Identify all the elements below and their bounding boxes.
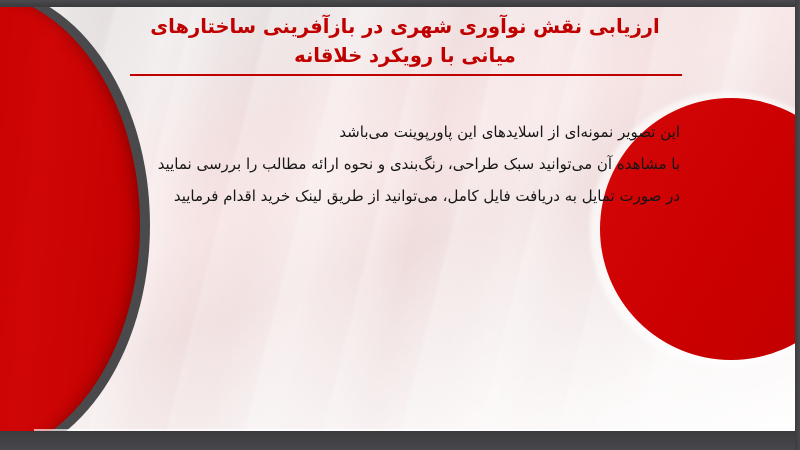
frame-edge-top [0, 0, 800, 7]
presentation-slide: ارزیابی نقش نوآوری شهری در بازآفرینی ساخ… [0, 0, 800, 450]
title-divider-rule [130, 74, 682, 76]
frame-edge-bottom [0, 431, 800, 450]
slide-title: ارزیابی نقش نوآوری شهری در بازآفرینی ساخ… [120, 12, 690, 70]
body-line-3: در صورت تمایل به دریافت فایل کامل، می‌تو… [120, 180, 680, 212]
slide-body-text: این تصویر نمونه‌ای از اسلایدهای این پاور… [120, 116, 680, 212]
frame-edge-right [795, 0, 800, 450]
body-line-1: این تصویر نمونه‌ای از اسلایدهای این پاور… [120, 116, 680, 148]
slide-title-line-2: میانی با رویکرد خلاقانه [120, 41, 690, 70]
body-line-2: با مشاهده آن می‌توانید سبک طراحی، رنگ‌بن… [120, 148, 680, 180]
slide-title-line-1: ارزیابی نقش نوآوری شهری در بازآفرینی ساخ… [120, 12, 690, 41]
